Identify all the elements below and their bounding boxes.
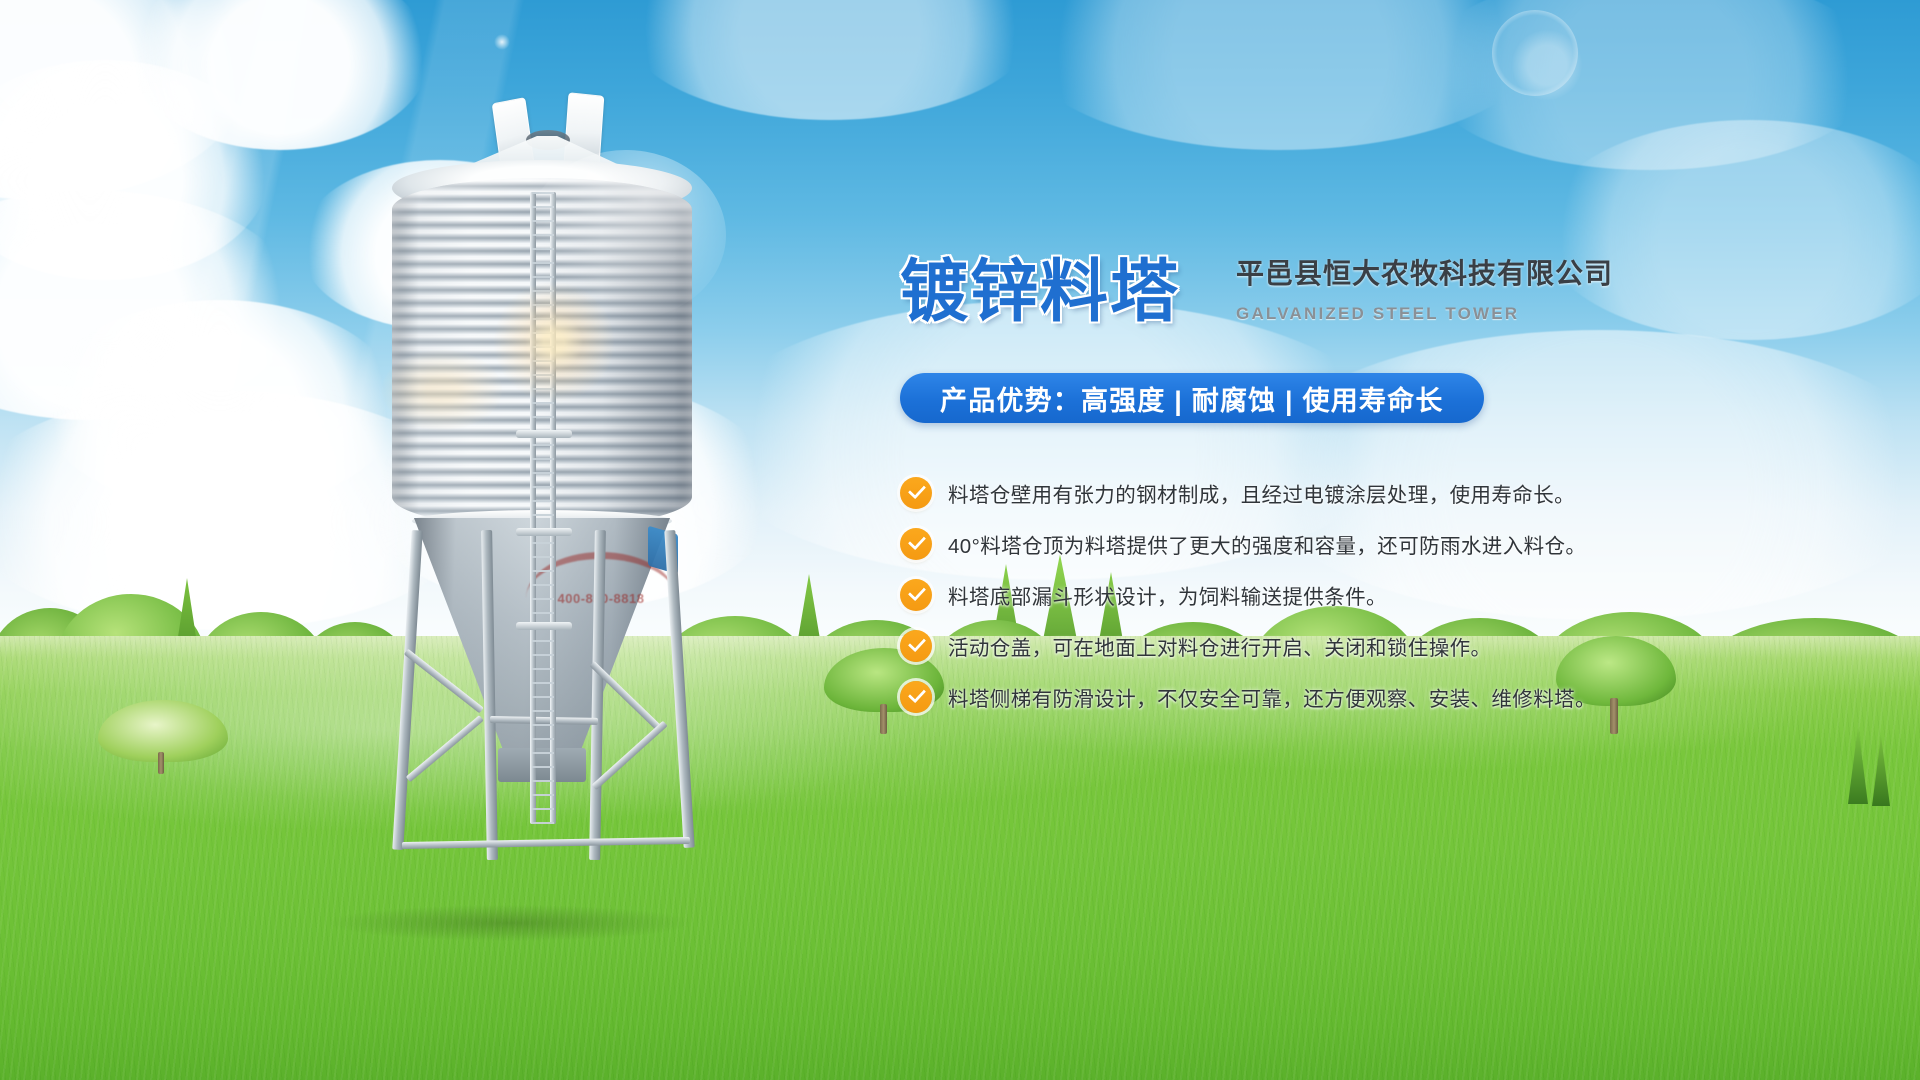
list-item: 料塔仓壁用有张力的钢材制成，且经过电镀涂层处理，使用寿命长。 xyxy=(900,467,1600,518)
title-row: 镀锌料塔 平邑县恒大农牧科技有限公司 GALVANIZED STEEL TOWE… xyxy=(900,236,1600,335)
check-circle-icon xyxy=(900,477,932,509)
feature-text: 料塔侧梯有防滑设计，不仅安全可靠，还方便观察、安装、维修料塔。 xyxy=(948,682,1596,712)
silo-cross-brace xyxy=(402,837,690,849)
silo-support-leg xyxy=(392,530,423,850)
silo-support-leg xyxy=(664,530,694,848)
list-item: 活动仓盖，可在地面上对料仓进行开启、关闭和锁住操作。 xyxy=(900,620,1600,671)
product-banner: 400-850-8818 镀锌料塔 xyxy=(0,0,1920,1080)
silo-cross-brace xyxy=(592,721,668,790)
feature-text: 料塔仓壁用有张力的钢材制成，且经过电镀涂层处理，使用寿命长。 xyxy=(948,478,1575,508)
check-circle-icon xyxy=(900,579,932,611)
list-item: 料塔底部漏斗形状设计，为饲料输送提供条件。 xyxy=(900,569,1600,620)
feature-text: 活动仓盖，可在地面上对料仓进行开启、关闭和锁住操作。 xyxy=(948,631,1491,661)
advantages-badge: 产品优势：高强度 | 耐腐蚀 | 使用寿命长 xyxy=(900,373,1484,423)
ladder-cage-ring xyxy=(516,622,572,630)
banner-text-panel: 镀锌料塔 平邑县恒大农牧科技有限公司 GALVANIZED STEEL TOWE… xyxy=(900,236,1600,722)
ladder-cage-ring xyxy=(516,430,572,438)
company-block: 平邑县恒大农牧科技有限公司 GALVANIZED STEEL TOWER xyxy=(1236,248,1613,324)
silo-cross-brace xyxy=(406,715,484,782)
check-circle-icon xyxy=(900,681,932,713)
page-title: 镀锌料塔 xyxy=(900,236,1180,335)
check-circle-icon xyxy=(900,630,932,662)
galvanized-silo-image: 400-850-8818 xyxy=(330,100,750,920)
company-name: 平邑县恒大农牧科技有限公司 xyxy=(1236,252,1613,292)
feature-text: 40°料塔仓顶为料塔提供了更大的强度和容量，还可防雨水进入料仓。 xyxy=(948,529,1586,559)
check-circle-icon xyxy=(900,528,932,560)
silo-side-ladder xyxy=(528,192,558,824)
list-item: 40°料塔仓顶为料塔提供了更大的强度和容量，还可防雨水进入料仓。 xyxy=(900,518,1600,569)
advantages-badge-label: 产品优势：高强度 | 耐腐蚀 | 使用寿命长 xyxy=(940,379,1444,418)
english-subtitle: GALVANIZED STEEL TOWER xyxy=(1236,304,1613,324)
list-item: 料塔侧梯有防滑设计，不仅安全可靠，还方便观察、安装、维修料塔。 xyxy=(900,671,1600,722)
ladder-cage-ring xyxy=(516,528,572,536)
feature-text: 料塔底部漏斗形状设计，为饲料输送提供条件。 xyxy=(948,580,1387,610)
feature-list: 料塔仓壁用有张力的钢材制成，且经过电镀涂层处理，使用寿命长。 40°料塔仓顶为料… xyxy=(900,467,1600,722)
ladder-rungs xyxy=(532,192,554,824)
